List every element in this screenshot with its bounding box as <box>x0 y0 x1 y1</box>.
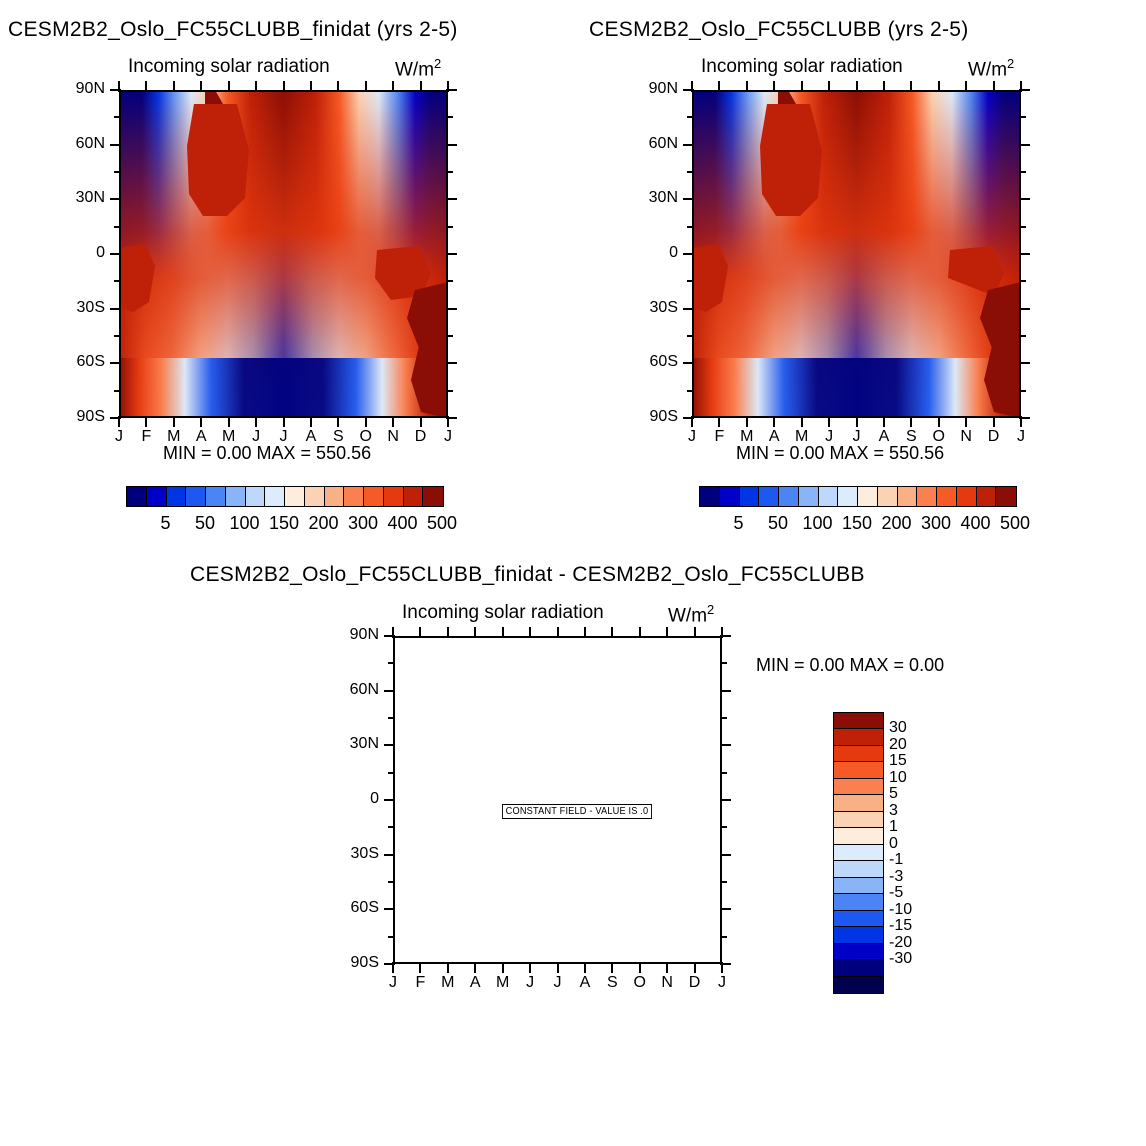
x-axis-label-top-right: N <box>954 428 978 446</box>
y-tick-minor <box>388 662 395 664</box>
x-tick <box>447 416 449 427</box>
units-exponent: 2 <box>707 602 714 617</box>
x-tick <box>611 962 613 973</box>
y-tick-major <box>683 144 694 146</box>
x-tick <box>993 416 995 427</box>
x-tick <box>392 416 394 427</box>
y-tick-minor <box>446 335 453 337</box>
x-axis-label-top-left: J <box>436 428 460 446</box>
x-axis-label-top-right: J <box>817 428 841 446</box>
y-axis-label-top-right: 60S <box>622 353 678 371</box>
x-tick <box>910 416 912 427</box>
units-exponent: 2 <box>434 56 441 71</box>
y-tick-minor <box>720 936 727 938</box>
y-tick-major <box>110 253 121 255</box>
y-axis-label-top-right: 0 <box>622 244 678 262</box>
y-axis-label-top-left: 90N <box>49 80 105 98</box>
colorbar-cell <box>834 828 883 844</box>
colorbar-cell <box>404 487 424 506</box>
colorbar-cell <box>878 487 898 506</box>
x-tick <box>883 416 885 427</box>
x-tick <box>718 416 720 427</box>
colorbar-cell <box>246 487 266 506</box>
y-tick-minor <box>446 116 453 118</box>
x-tick <box>502 627 504 638</box>
y-tick-major <box>110 308 121 310</box>
x-axis-label-bottom: F <box>408 974 432 992</box>
colorbar-tick-label: -20 <box>889 934 912 952</box>
x-tick <box>228 81 230 92</box>
x-tick <box>310 81 312 92</box>
x-axis-label-top-right: A <box>762 428 786 446</box>
colorbar-tick-label: 15 <box>889 752 907 770</box>
y-tick-major <box>683 362 694 364</box>
x-axis-label-top-right: J <box>680 428 704 446</box>
colorbar-tick-label: -10 <box>889 901 912 919</box>
y-tick-major <box>1019 144 1030 146</box>
colorbar-cell <box>740 487 760 506</box>
y-tick-major <box>384 854 395 856</box>
x-tick <box>200 81 202 92</box>
colorbar-cell <box>127 487 147 506</box>
colorbar-cell <box>700 487 720 506</box>
colorbar-tick-label: -5 <box>889 884 903 902</box>
x-axis-label-bottom: D <box>683 974 707 992</box>
x-tick <box>145 416 147 427</box>
colorbar-cell <box>819 487 839 506</box>
x-axis-label-top-right: S <box>899 428 923 446</box>
y-axis-label-bottom: 60S <box>323 899 379 917</box>
x-tick <box>773 81 775 92</box>
colorbar-cell <box>937 487 957 506</box>
x-tick <box>965 416 967 427</box>
x-tick <box>557 962 559 973</box>
colorbar-cell <box>167 487 187 506</box>
x-tick <box>828 416 830 427</box>
x-tick <box>856 416 858 427</box>
x-tick <box>447 962 449 973</box>
x-tick <box>447 627 449 638</box>
units-text: W/m <box>395 59 434 80</box>
x-tick <box>965 81 967 92</box>
panel-top-left: CESM2B2_Oslo_FC55CLUBB_finidat (yrs 2-5)… <box>0 0 573 540</box>
y-tick-major <box>446 308 457 310</box>
colorbar-tick-label: 30 <box>889 719 907 737</box>
x-tick <box>145 81 147 92</box>
colorbar-cell <box>226 487 246 506</box>
x-tick <box>337 81 339 92</box>
colorbar-cell <box>186 487 206 506</box>
x-tick <box>420 416 422 427</box>
panel-top-right-units: W/m2 <box>968 56 1014 81</box>
x-tick <box>639 962 641 973</box>
colorbar-cell <box>325 487 345 506</box>
y-tick-minor <box>1019 116 1026 118</box>
x-tick <box>694 962 696 973</box>
colorbar-cell <box>834 960 883 976</box>
y-tick-major <box>384 799 395 801</box>
panel-top-left-units: W/m2 <box>395 56 441 81</box>
x-axis-label-bottom: J <box>546 974 570 992</box>
y-tick-major <box>1019 198 1030 200</box>
x-tick <box>118 81 120 92</box>
x-tick <box>1020 81 1022 92</box>
y-tick-major <box>446 253 457 255</box>
y-tick-major <box>384 744 395 746</box>
x-axis-label-top-right: M <box>735 428 759 446</box>
plot-frame-bottom <box>393 636 722 964</box>
y-tick-major <box>683 308 694 310</box>
x-tick <box>639 627 641 638</box>
colorbar-cell <box>834 845 883 861</box>
y-tick-minor <box>446 226 453 228</box>
x-axis-label-bottom: M <box>491 974 515 992</box>
colorbar-cell <box>364 487 384 506</box>
x-axis-label-top-left: S <box>326 428 350 446</box>
x-tick <box>420 81 422 92</box>
panel-bottom-difference: CESM2B2_Oslo_FC55CLUBB_finidat - CESM2B2… <box>0 540 1146 1060</box>
y-tick-minor <box>446 171 453 173</box>
y-tick-minor <box>114 280 121 282</box>
y-tick-minor <box>1019 280 1026 282</box>
panel-top-left-minmax: MIN = 0.00 MAX = 550.56 <box>163 443 371 464</box>
panel-bottom-title: CESM2B2_Oslo_FC55CLUBB_finidat - CESM2B2… <box>190 563 865 587</box>
x-axis-label-top-left: O <box>354 428 378 446</box>
units-text: W/m <box>968 59 1007 80</box>
y-tick-minor <box>720 772 727 774</box>
x-tick <box>746 81 748 92</box>
x-tick <box>474 962 476 973</box>
plot-frame-top-right <box>692 90 1021 418</box>
x-tick <box>255 81 257 92</box>
x-axis-label-top-left: D <box>409 428 433 446</box>
colorbar-cell <box>834 894 883 910</box>
colorbar-cell <box>834 977 883 993</box>
x-axis-label-top-right: M <box>790 428 814 446</box>
y-tick-major <box>446 198 457 200</box>
x-axis-label-top-left: J <box>244 428 268 446</box>
y-tick-minor <box>1019 226 1026 228</box>
y-tick-major <box>720 799 731 801</box>
x-tick <box>392 962 394 973</box>
colorbar-cell <box>957 487 977 506</box>
x-tick <box>529 962 531 973</box>
x-tick <box>938 81 940 92</box>
y-tick-minor <box>388 772 395 774</box>
units-text: W/m <box>668 605 707 626</box>
y-tick-minor <box>687 116 694 118</box>
y-tick-major <box>110 144 121 146</box>
colorbar-cell <box>858 487 878 506</box>
colorbar-cell <box>834 911 883 927</box>
x-axis-label-top-left: M <box>217 428 241 446</box>
x-tick <box>283 81 285 92</box>
y-axis-label-top-right: 60N <box>622 135 678 153</box>
colorbar-top-right <box>699 486 1017 507</box>
y-tick-minor <box>720 717 727 719</box>
colorbar-cell <box>834 795 883 811</box>
colorbar-tick-label: -3 <box>889 868 903 886</box>
x-axis-label-bottom: J <box>710 974 734 992</box>
x-tick <box>502 962 504 973</box>
y-tick-minor <box>114 335 121 337</box>
x-tick <box>365 81 367 92</box>
y-tick-major <box>720 908 731 910</box>
colorbar-cell <box>423 487 443 506</box>
y-tick-major <box>384 908 395 910</box>
panel-top-right-minmax: MIN = 0.00 MAX = 550.56 <box>736 443 944 464</box>
x-tick <box>392 81 394 92</box>
panel-top-left-field-label: Incoming solar radiation <box>128 56 330 78</box>
y-tick-minor <box>687 280 694 282</box>
y-tick-minor <box>114 171 121 173</box>
colorbar-cell <box>779 487 799 506</box>
colorbar-cell <box>834 713 883 729</box>
x-tick <box>283 416 285 427</box>
colorbar-cell <box>834 861 883 877</box>
y-tick-major <box>683 198 694 200</box>
x-tick <box>447 81 449 92</box>
panel-bottom-minmax: MIN = 0.00 MAX = 0.00 <box>756 655 944 676</box>
x-tick <box>993 81 995 92</box>
x-tick <box>337 416 339 427</box>
colorbar-cell <box>898 487 918 506</box>
y-tick-minor <box>687 226 694 228</box>
y-axis-label-top-left: 0 <box>49 244 105 262</box>
x-tick <box>365 416 367 427</box>
x-axis-label-top-left: J <box>272 428 296 446</box>
x-axis-label-top-left: M <box>162 428 186 446</box>
panel-bottom-field-label: Incoming solar radiation <box>402 602 604 624</box>
colorbar-tick-label: 0 <box>889 835 898 853</box>
y-tick-major <box>683 253 694 255</box>
x-tick <box>938 416 940 427</box>
x-axis-label-bottom: S <box>600 974 624 992</box>
x-tick <box>1020 416 1022 427</box>
x-tick <box>801 81 803 92</box>
x-tick <box>801 416 803 427</box>
y-tick-major <box>1019 362 1030 364</box>
y-axis-label-top-right: 30N <box>622 189 678 207</box>
y-axis-label-top-left: 30S <box>49 299 105 317</box>
x-tick <box>721 627 723 638</box>
colorbar-cell <box>285 487 305 506</box>
x-tick <box>557 627 559 638</box>
panel-top-right-title: CESM2B2_Oslo_FC55CLUBB (yrs 2-5) <box>589 18 969 42</box>
y-axis-label-top-left: 60N <box>49 135 105 153</box>
x-tick <box>691 81 693 92</box>
colorbar-cell <box>206 487 226 506</box>
x-tick <box>173 81 175 92</box>
x-tick <box>718 81 720 92</box>
y-tick-minor <box>720 662 727 664</box>
constant-field-annotation: CONSTANT FIELD - VALUE IS .0 <box>502 804 652 819</box>
y-tick-minor <box>388 717 395 719</box>
colorbar-tick-label: -1 <box>889 851 903 869</box>
y-axis-label-bottom: 90N <box>323 626 379 644</box>
y-tick-major <box>720 744 731 746</box>
y-axis-label-top-right: 30S <box>622 299 678 317</box>
y-tick-major <box>720 854 731 856</box>
x-axis-label-top-right: D <box>982 428 1006 446</box>
x-axis-label-bottom: O <box>628 974 652 992</box>
x-tick <box>666 627 668 638</box>
x-axis-label-bottom: A <box>573 974 597 992</box>
x-tick <box>694 627 696 638</box>
x-tick <box>611 627 613 638</box>
x-axis-label-top-right: O <box>927 428 951 446</box>
colorbar-cell <box>147 487 167 506</box>
x-axis-label-bottom: J <box>381 974 405 992</box>
colorbar-difference <box>833 712 884 994</box>
colorbar-tick-label: -30 <box>889 950 912 968</box>
colorbar-cell <box>305 487 325 506</box>
x-tick <box>773 416 775 427</box>
y-tick-minor <box>388 936 395 938</box>
colorbar-tick-label: 1 <box>889 818 898 836</box>
x-axis-label-top-right: A <box>872 428 896 446</box>
x-axis-label-bottom: J <box>518 974 542 992</box>
x-tick <box>474 627 476 638</box>
y-tick-minor <box>446 390 453 392</box>
y-axis-label-top-right: 90N <box>622 80 678 98</box>
x-tick <box>584 962 586 973</box>
y-tick-minor <box>720 881 727 883</box>
y-axis-label-top-left: 30N <box>49 189 105 207</box>
colorbar-cell <box>834 746 883 762</box>
field-name-text: Incoming solar radiation <box>701 56 903 77</box>
colorbar-cell <box>977 487 997 506</box>
colorbar-tick-label: 20 <box>889 736 907 754</box>
x-axis-label-top-left: J <box>107 428 131 446</box>
y-tick-minor <box>388 881 395 883</box>
y-tick-major <box>720 690 731 692</box>
colorbar-cell <box>759 487 779 506</box>
colorbar-cell <box>720 487 740 506</box>
x-tick <box>828 81 830 92</box>
y-axis-label-top-right: 90S <box>622 408 678 426</box>
x-axis-label-top-right: J <box>1009 428 1033 446</box>
panel-top-right-field-label: Incoming solar radiation <box>701 56 903 78</box>
colorbar-cell <box>384 487 404 506</box>
y-tick-minor <box>446 280 453 282</box>
y-tick-minor <box>114 226 121 228</box>
y-tick-major <box>110 198 121 200</box>
y-tick-minor <box>114 116 121 118</box>
y-axis-label-bottom: 30N <box>323 735 379 753</box>
x-tick <box>746 416 748 427</box>
x-tick <box>419 627 421 638</box>
panel-top-left-title: CESM2B2_Oslo_FC55CLUBB_finidat (yrs 2-5) <box>8 18 458 42</box>
y-tick-minor <box>687 390 694 392</box>
y-axis-label-bottom: 30S <box>323 845 379 863</box>
y-tick-minor <box>1019 390 1026 392</box>
x-tick <box>200 416 202 427</box>
x-tick <box>255 416 257 427</box>
colorbar-tick-label: 10 <box>889 769 907 787</box>
x-axis-label-top-left: N <box>381 428 405 446</box>
colorbar-cell <box>834 762 883 778</box>
x-axis-label-top-right: F <box>707 428 731 446</box>
y-tick-major <box>1019 253 1030 255</box>
x-tick <box>584 627 586 638</box>
x-tick <box>856 81 858 92</box>
colorbar-tick-label: 5 <box>889 785 898 803</box>
y-axis-label-top-left: 60S <box>49 353 105 371</box>
y-tick-major <box>446 362 457 364</box>
colorbar-tick-label: 3 <box>889 802 898 820</box>
y-tick-minor <box>1019 171 1026 173</box>
x-tick <box>310 416 312 427</box>
x-axis-label-top-left: F <box>134 428 158 446</box>
y-tick-minor <box>720 826 727 828</box>
y-axis-label-bottom: 90S <box>323 954 379 972</box>
colorbar-cell <box>834 779 883 795</box>
x-axis-label-top-left: A <box>299 428 323 446</box>
plot-frame-top-left <box>119 90 448 418</box>
colorbar-cell <box>834 944 883 960</box>
x-axis-label-top-left: A <box>189 428 213 446</box>
y-tick-major <box>446 144 457 146</box>
y-tick-minor <box>388 826 395 828</box>
x-tick <box>910 81 912 92</box>
colorbar-tick-label: 500 <box>412 513 472 534</box>
colorbar-tick-label: -15 <box>889 917 912 935</box>
colorbar-tick-label: 500 <box>985 513 1045 534</box>
colorbar-cell <box>265 487 285 506</box>
x-tick <box>392 627 394 638</box>
x-tick <box>721 962 723 973</box>
y-axis-label-bottom: 60N <box>323 681 379 699</box>
y-tick-major <box>1019 308 1030 310</box>
y-tick-major <box>384 690 395 692</box>
colorbar-cell <box>344 487 364 506</box>
x-tick <box>666 962 668 973</box>
colorbar-cell <box>917 487 937 506</box>
colorbar-cell <box>834 927 883 943</box>
x-axis-label-top-right: J <box>845 428 869 446</box>
x-tick <box>529 627 531 638</box>
colorbar-cell <box>799 487 819 506</box>
colorbar-cell <box>834 729 883 745</box>
y-tick-minor <box>687 171 694 173</box>
x-tick <box>118 416 120 427</box>
panel-bottom-units: W/m2 <box>668 602 714 627</box>
units-exponent: 2 <box>1007 56 1014 71</box>
x-tick <box>883 81 885 92</box>
colorbar-cell <box>834 812 883 828</box>
x-tick <box>173 416 175 427</box>
x-tick <box>691 416 693 427</box>
x-axis-label-bottom: N <box>655 974 679 992</box>
field-name-text: Incoming solar radiation <box>128 56 330 77</box>
x-tick <box>419 962 421 973</box>
y-tick-major <box>110 362 121 364</box>
y-tick-minor <box>114 390 121 392</box>
colorbar-cell <box>834 878 883 894</box>
colorbar-top-left <box>126 486 444 507</box>
field-name-text: Incoming solar radiation <box>402 602 604 623</box>
y-axis-label-top-left: 90S <box>49 408 105 426</box>
y-tick-minor <box>1019 335 1026 337</box>
x-axis-label-bottom: A <box>463 974 487 992</box>
colorbar-cell <box>996 487 1016 506</box>
colorbar-cell <box>838 487 858 506</box>
y-axis-label-bottom: 0 <box>323 790 379 808</box>
y-tick-minor <box>687 335 694 337</box>
panel-top-right: CESM2B2_Oslo_FC55CLUBB (yrs 2-5) Incomin… <box>573 0 1146 540</box>
x-axis-label-bottom: M <box>436 974 460 992</box>
